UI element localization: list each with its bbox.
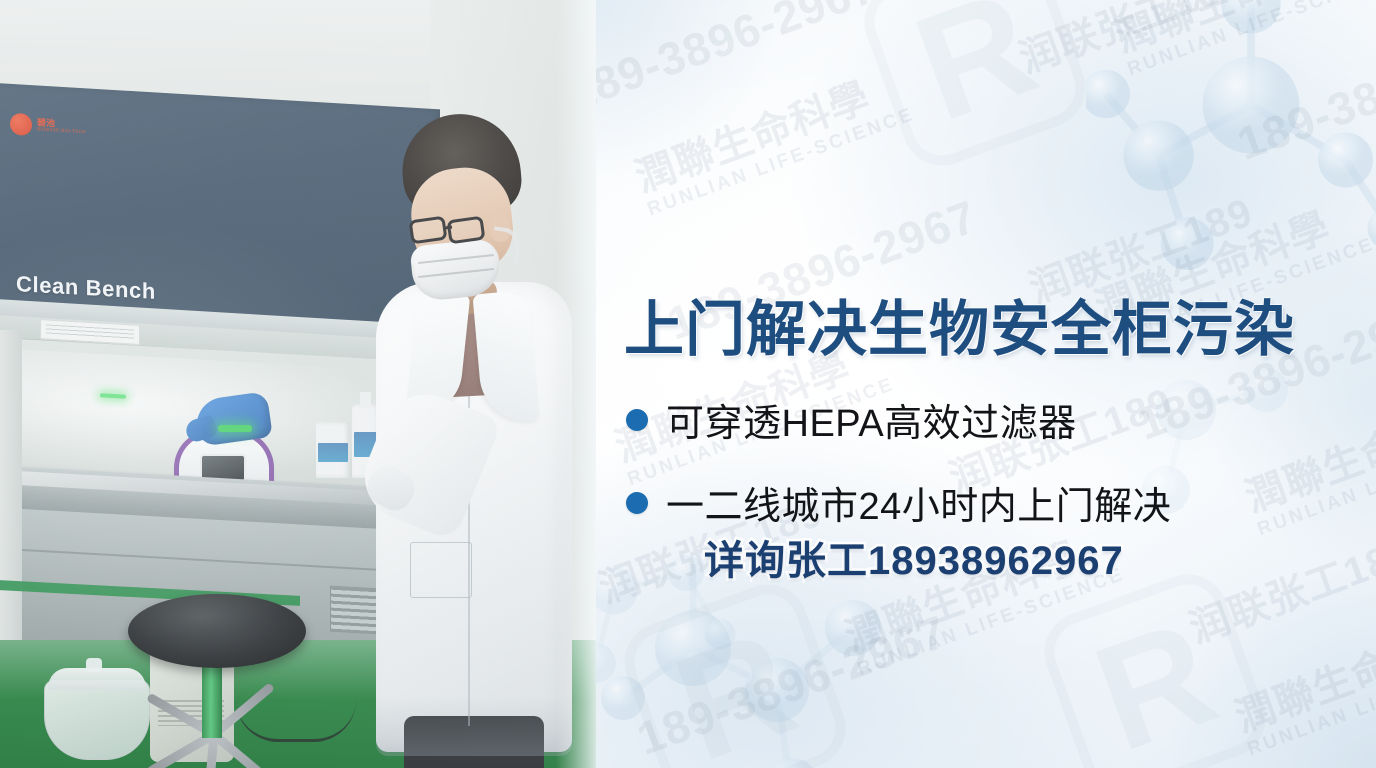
desiccator-knob bbox=[86, 658, 102, 672]
stool-seat bbox=[128, 594, 306, 668]
promo-banner: R R R R 潤聯生命科學 RUNLIAN LIFE-SCIENCE 189-… bbox=[0, 0, 1376, 768]
bullet-label: 一二线城市24小时内上门解决 bbox=[666, 475, 1171, 530]
bullet-label: 可穿透HEPA高效过滤器 bbox=[666, 392, 1077, 447]
eyeglasses-left-lens bbox=[409, 216, 448, 245]
eyeglasses-right-lens bbox=[447, 216, 486, 245]
bullet-dot-icon bbox=[626, 492, 648, 514]
lab-technician bbox=[382, 96, 582, 768]
reagent-bottle bbox=[316, 422, 350, 478]
coat-hem-shadow bbox=[376, 696, 572, 756]
promo-text-content: 上门解决生物安全柜污染 可穿透HEPA高效过滤器 一二线城市24小时内上门解决 … bbox=[596, 0, 1376, 768]
laboratory-photo: 碧池 BIOBASE BIO-TECH Clean Bench bbox=[0, 0, 596, 768]
bullet-dot-icon bbox=[626, 409, 648, 431]
headline: 上门解决生物安全柜污染 bbox=[624, 281, 1295, 368]
coat-pocket bbox=[410, 542, 472, 598]
list-item: 一二线城市24小时内上门解决 bbox=[626, 475, 1171, 530]
contact-phone-line: 详询张工18938962967 bbox=[704, 528, 1124, 586]
logo-mark-icon bbox=[10, 113, 32, 136]
list-item: 可穿透HEPA高效过滤器 bbox=[626, 392, 1171, 447]
logo-text: 碧池 BIOBASE BIO-TECH bbox=[37, 118, 86, 135]
mask-strap bbox=[490, 226, 522, 264]
desiccator-jar bbox=[44, 680, 150, 760]
photo-scene: 碧池 BIOBASE BIO-TECH Clean Bench bbox=[0, 0, 596, 768]
bottle-label bbox=[318, 443, 348, 462]
bottle-neck bbox=[360, 392, 371, 406]
stool-base bbox=[150, 724, 296, 754]
manufacturer-logo: 碧池 BIOBASE BIO-TECH bbox=[10, 113, 86, 140]
vial-highlight bbox=[218, 425, 252, 432]
